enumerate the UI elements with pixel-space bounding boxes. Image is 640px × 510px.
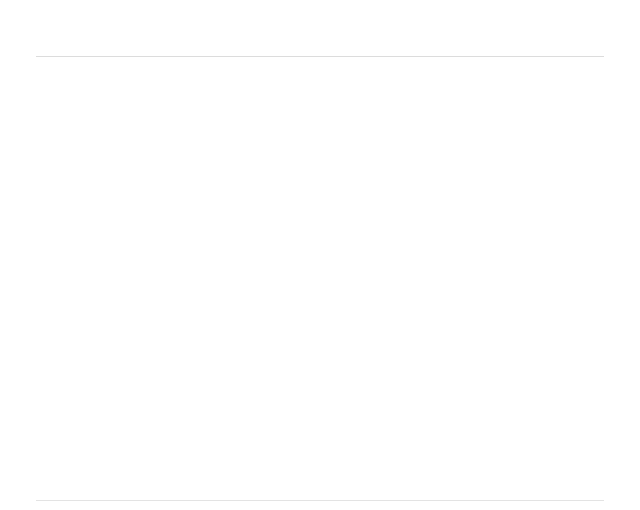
chart-legend — [0, 356, 640, 504]
legend-bottom-divider — [36, 500, 604, 501]
pie-chart — [140, 124, 508, 352]
chart-page — [0, 0, 640, 510]
header-divider — [36, 56, 604, 57]
pie-chart-svg — [140, 124, 508, 352]
